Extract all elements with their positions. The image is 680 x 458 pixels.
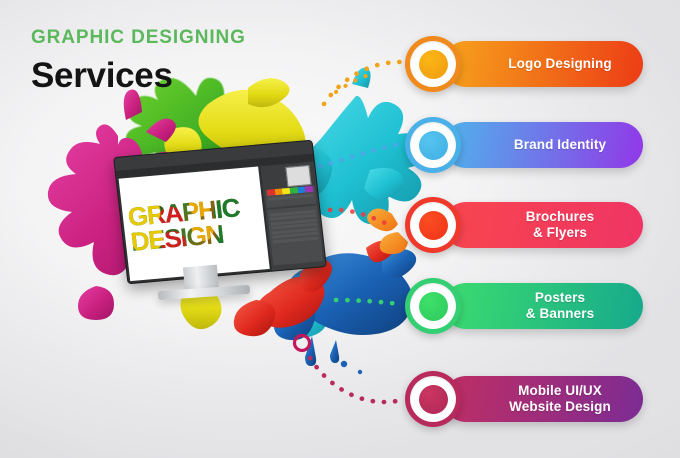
service-label-line1: Brand Identity — [514, 137, 606, 152]
swatch-purple — [305, 186, 313, 193]
ring-core — [419, 50, 448, 79]
page-title-block: GRAPHIC DESIGNING Services — [31, 28, 246, 93]
ring-white-inner — [410, 202, 456, 248]
service-label-line2: & Banners — [526, 306, 594, 321]
service-pill[interactable]: Mobile UI/UX Website Design — [443, 376, 643, 422]
service-pill[interactable]: Logo Designing — [443, 41, 643, 87]
ring-white-inner — [410, 283, 456, 329]
photoshop-panels — [259, 162, 326, 271]
service-ring-brand-identity-icon — [405, 117, 461, 173]
connector-mobile-uiux — [310, 358, 402, 402]
service-label-line1: Brochures — [526, 209, 594, 224]
service-label: Logo Designing — [474, 56, 611, 72]
service-ring-mobile-uiux-icon — [405, 371, 461, 427]
service-label-line2: & Flyers — [533, 225, 587, 240]
service-pill[interactable]: Brand Identity — [443, 122, 643, 168]
monitor-base — [158, 285, 250, 300]
service-label: Posters & Banners — [492, 290, 594, 322]
poster-canvas: GRAPHIC DESIGN — [0, 0, 680, 458]
service-label: Mobile UI/UX Website Design — [475, 383, 611, 415]
service-label-line1: Posters — [535, 290, 585, 305]
photoshop-navigator-thumbnail — [285, 165, 311, 187]
ring-white-inner — [410, 376, 456, 422]
photoshop-color-panel — [265, 186, 317, 208]
service-pill[interactable]: Brochures & Flyers — [443, 202, 643, 248]
artwork-text: GRAPHIC DESIGN — [124, 175, 266, 274]
service-label-line2: Website Design — [509, 399, 611, 414]
ring-core — [419, 292, 448, 321]
service-label-line1: Logo Designing — [508, 56, 611, 71]
page-title: Services — [31, 58, 246, 93]
kicker-text: GRAPHIC DESIGNING — [31, 28, 246, 47]
ring-core — [419, 385, 448, 414]
service-ring-posters-banners-icon — [405, 278, 461, 334]
ring-core — [419, 211, 448, 240]
ring-core — [419, 131, 448, 160]
service-label: Brochures & Flyers — [492, 209, 594, 241]
service-label: Brand Identity — [480, 137, 606, 153]
service-label-line1: Mobile UI/UX — [518, 383, 602, 398]
service-pill[interactable]: Posters & Banners — [443, 283, 643, 329]
ring-white-inner — [410, 41, 456, 87]
artwork-line-2: DESIGN — [130, 219, 264, 254]
ring-white-inner — [410, 122, 456, 168]
monitor-screen: GRAPHIC DESIGN — [113, 140, 327, 285]
photoshop-canvas: GRAPHIC DESIGN — [119, 167, 270, 282]
service-ring-brochures-flyers-icon — [405, 197, 461, 253]
service-ring-logo-designing-icon — [405, 36, 461, 92]
desktop-monitor: GRAPHIC DESIGN — [112, 148, 327, 308]
photoshop-layers-panel — [267, 206, 323, 266]
